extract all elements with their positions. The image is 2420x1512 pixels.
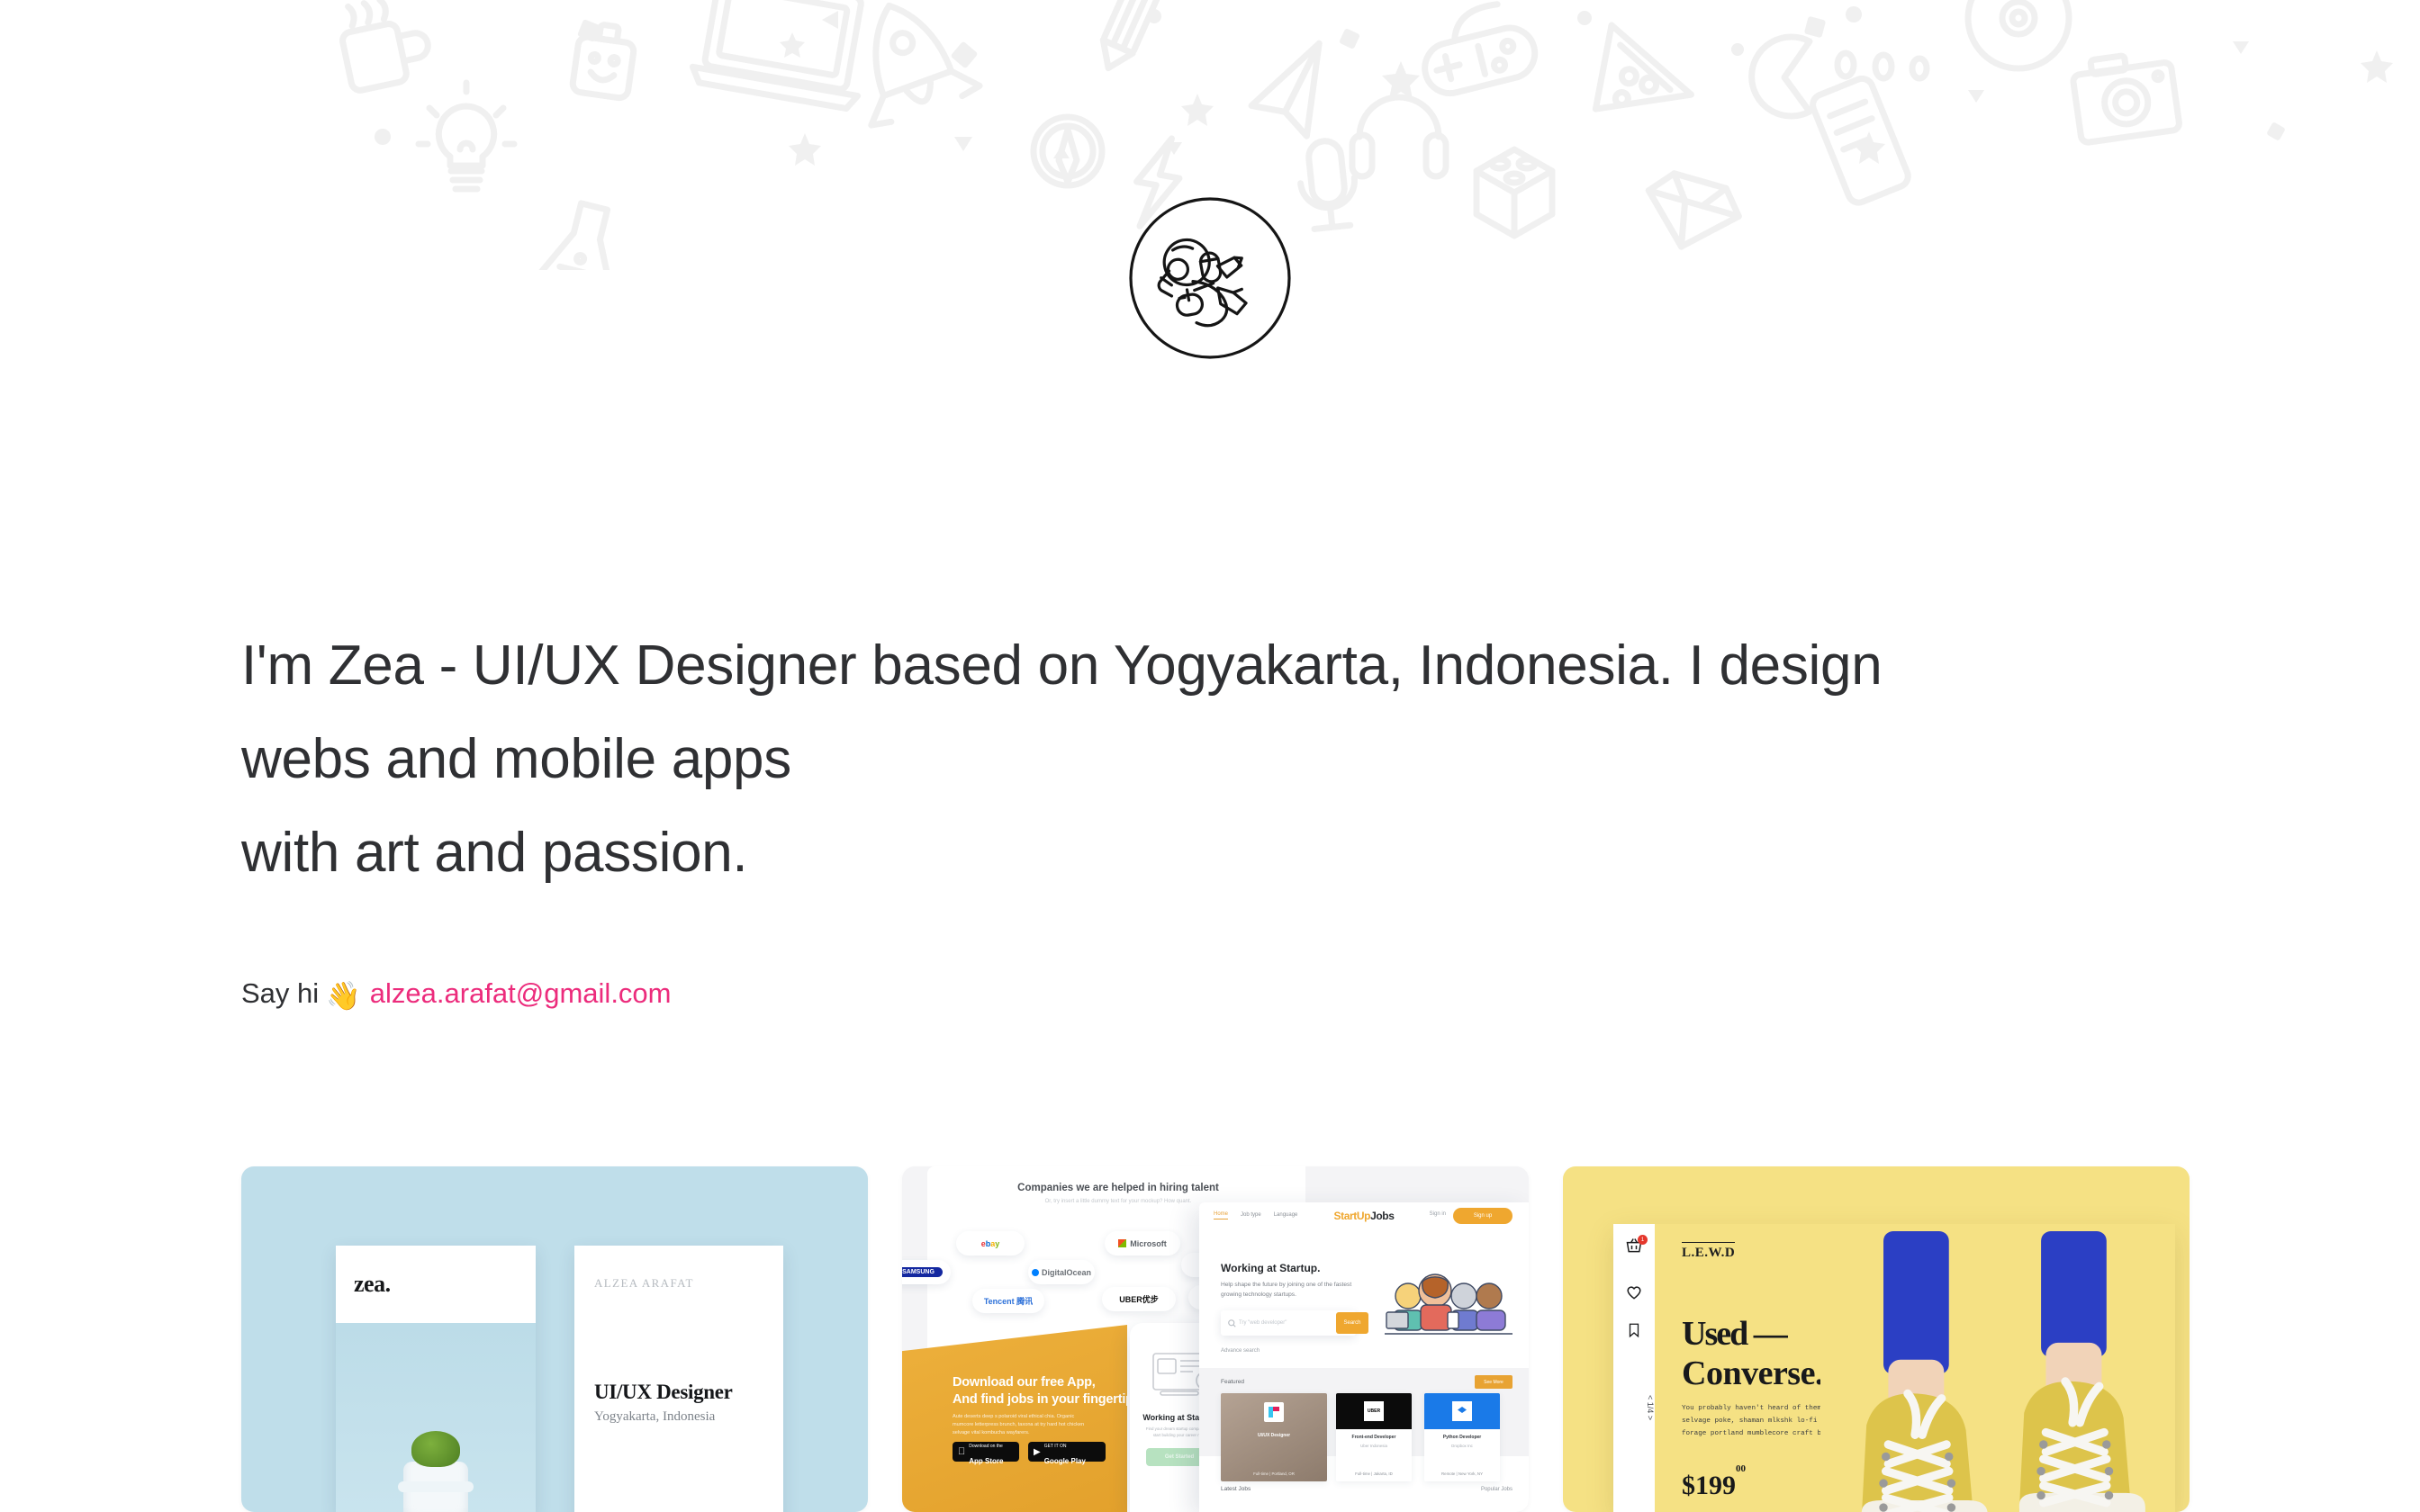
promo-line-1: Download our free App,	[953, 1375, 1096, 1390]
portfolio-page: I'm Zea - UI/UX Designer based on Yogyak…	[0, 0, 2420, 1512]
product-title-line-2: Converse.	[1682, 1354, 1823, 1392]
project-card-lewd-shop[interactable]: 1 < 1/4 > L.E.W.D Used — Converse. You p…	[1563, 1166, 2190, 1512]
flask-icon	[530, 196, 635, 270]
lego-head-icon	[572, 22, 637, 99]
diamond-icon	[1637, 168, 1746, 260]
uber-logo-icon: UBER	[1364, 1401, 1384, 1421]
contact-row: Say hi 👋 alzea.arafat@gmail.com	[241, 976, 672, 1012]
site-logo: StartUpJobs	[1334, 1210, 1395, 1222]
heart-icon[interactable]	[1625, 1283, 1643, 1301]
latest-jobs-label: Latest Jobs	[1221, 1486, 1251, 1492]
nav-item-jobtype[interactable]: Job type	[1241, 1212, 1261, 1218]
app-store-badge-bottom: App Store	[969, 1457, 1003, 1465]
dot-icon	[1838, 53, 1927, 78]
search-icon	[1228, 1319, 1236, 1327]
lego-brick-icon	[1476, 149, 1552, 236]
card-role: UI/UX Designer	[594, 1381, 733, 1404]
cd-disc-icon	[1968, 0, 2069, 68]
hero-section: I'm Zea - UI/UX Designer based on Yogyak…	[241, 619, 2042, 900]
company-logo-ebay: ebay	[956, 1231, 1025, 1255]
pencil-icon	[1094, 0, 1173, 75]
paper-plane-icon	[1244, 43, 1332, 143]
job-card-3-title: Python Developer	[1424, 1435, 1500, 1440]
headline-line-1: I'm Zea - UI/UX Designer based on Yogyak…	[241, 619, 2006, 806]
lightbulb-icon	[419, 83, 514, 189]
gamepad-icon	[1413, 0, 1540, 99]
site-logo-part-2: Jobs	[1370, 1210, 1394, 1222]
startupjobs-site-mockup: Home Job type Language StartUpJobs Sign …	[1199, 1202, 1529, 1512]
product-description: You probably haven't heard of them selva…	[1682, 1402, 1839, 1440]
search-button[interactable]: Search	[1336, 1312, 1368, 1334]
square-icon	[577, 16, 2286, 141]
nav-item-home[interactable]: Home	[1214, 1211, 1228, 1219]
plant-photo	[336, 1323, 536, 1512]
dropbox-logo-icon	[1452, 1401, 1472, 1421]
job-card-3[interactable]: Python Developer Dropbox Inc Remote | Ne…	[1424, 1393, 1500, 1481]
microphone-icon	[1296, 139, 1359, 230]
business-card-mockup: ALZEA ARAFAT UI/UX Designer Yogyakarta, …	[574, 1246, 783, 1512]
product-price-main: $199	[1682, 1471, 1736, 1500]
project-grid: zea. ALZEA ARAFAT UI/UX Designer Yogyaka…	[241, 1166, 2190, 1512]
job-card-1[interactable]: UI/UX Designer Full-time | Portland, OR	[1221, 1393, 1327, 1481]
rocket-icon	[835, 0, 980, 129]
card-kicker: ALZEA ARAFAT	[594, 1276, 694, 1291]
triangle-icon	[822, 11, 2249, 158]
promo-body: Aute deserts deep s polaroid viral ethic…	[953, 1413, 1088, 1437]
shop-logo: L.E.W.D	[1682, 1242, 1735, 1261]
waving-hand-icon: 👋	[326, 982, 361, 1010]
contact-label: Say hi	[241, 976, 319, 1012]
google-play-badge: ▶ GET IT ONGoogle Play	[1028, 1442, 1106, 1462]
product-price: $19900	[1682, 1471, 1746, 1501]
page-title: I'm Zea - UI/UX Designer based on Yogyak…	[241, 619, 2006, 900]
company-logo-samsung: SAMSUNG	[902, 1260, 951, 1284]
astronaut-badge-logo[interactable]	[1128, 196, 1292, 360]
job-card-3-thumbnail	[1424, 1393, 1500, 1429]
star-icon	[780, 32, 2393, 166]
site-hero-title: Working at Startup.	[1221, 1262, 1320, 1274]
company-logo-microsoft: Microsoft	[1105, 1231, 1180, 1255]
advance-search-toggle[interactable]: Advance search	[1221, 1348, 1260, 1354]
promo-line-2: And find jobs in your fingertips!	[953, 1392, 1144, 1407]
google-play-badge-bottom: Google Play	[1044, 1457, 1086, 1465]
email-link[interactable]: alzea.arafat@gmail.com	[370, 976, 672, 1012]
product-price-cents: 00	[1736, 1463, 1746, 1474]
company-logo-digitalocean: DigitalOcean	[1028, 1260, 1095, 1284]
sign-up-button[interactable]: Sign up	[1453, 1208, 1512, 1224]
carousel-pager[interactable]: < 1/4 >	[1613, 1395, 1655, 1420]
popular-jobs-dropdown[interactable]: Popular Jobs	[1481, 1487, 1512, 1492]
camera-icon	[2071, 49, 2180, 143]
job-card-3-company: Dropbox Inc	[1424, 1444, 1500, 1448]
card-location: Yogyakarta, Indonesia	[594, 1409, 715, 1425]
shop-side-rail: 1 < 1/4 >	[1613, 1224, 1655, 1512]
project-card-startupjobs[interactable]: Companies we are helped in hiring talent…	[902, 1166, 1529, 1512]
job-card-2-thumbnail: UBER	[1336, 1393, 1412, 1429]
project-card-zea-branding[interactable]: zea. ALZEA ARAFAT UI/UX Designer Yogyaka…	[241, 1166, 868, 1512]
logos-heading: Companies we are helped in hiring talent	[938, 1183, 1298, 1193]
pizza-icon	[1585, 25, 1704, 136]
succulent-pot-icon	[403, 1462, 468, 1512]
slack-logo-icon	[1264, 1402, 1284, 1422]
product-title: Used — Converse.	[1682, 1314, 1823, 1393]
smartphone-icon	[1810, 76, 1911, 206]
laptop-icon	[691, 0, 875, 110]
nav-item-language[interactable]: Language	[1274, 1212, 1298, 1218]
brand-mark: zea.	[354, 1271, 391, 1298]
shop-page-mockup: 1 < 1/4 > L.E.W.D Used — Converse. You p…	[1613, 1224, 2175, 1512]
job-card-2-company: Uber Indonesia	[1336, 1444, 1412, 1448]
dot-icon	[375, 6, 1862, 145]
job-card-2[interactable]: UBER Front-end Developer Uber Indonesia …	[1336, 1393, 1412, 1481]
branding-mockup-left: zea.	[336, 1246, 536, 1512]
job-card-2-title: Front-end Developer	[1336, 1435, 1412, 1440]
company-logo-tencent: Tencent 腾讯	[972, 1289, 1044, 1313]
bookmark-icon[interactable]	[1626, 1321, 1642, 1339]
pacman-icon	[1752, 37, 1810, 116]
team-illustration	[1381, 1269, 1516, 1337]
job-card-1-title: UI/UX Designer	[1221, 1433, 1327, 1438]
cart-count-badge: 1	[1638, 1235, 1648, 1245]
featured-label: Featured	[1221, 1379, 1244, 1385]
job-card-2-meta: Full-time | Jakarta, ID	[1336, 1471, 1412, 1476]
site-hero-subtitle: Help shape the future by joining one of …	[1221, 1280, 1365, 1300]
headphones-icon	[1352, 97, 1446, 176]
astronaut-icon	[1151, 230, 1252, 333]
see-more-button[interactable]: See More	[1475, 1375, 1512, 1389]
app-store-badge-top: Download on the	[969, 1444, 1003, 1449]
company-logo-uber: UBER优步	[1102, 1287, 1176, 1311]
job-card-3-meta: Remote | New York, NY	[1424, 1471, 1500, 1476]
compass-icon	[1034, 117, 1102, 185]
product-title-line-1: Used —	[1682, 1315, 1786, 1353]
sign-in-link[interactable]: Sign in	[1430, 1211, 1446, 1217]
google-play-badge-top: GET IT ON	[1044, 1444, 1067, 1449]
coffee-mug-icon	[336, 0, 435, 92]
site-logo-part-1: StartUp	[1334, 1210, 1371, 1222]
headline-line-2: with art and passion.	[241, 806, 2006, 900]
app-store-badge:  Download on theApp Store	[953, 1442, 1019, 1462]
logo-ring	[1131, 199, 1289, 357]
job-card-1-meta: Full-time | Portland, OR	[1221, 1471, 1327, 1476]
converse-sneakers-photo	[1820, 1231, 2175, 1512]
